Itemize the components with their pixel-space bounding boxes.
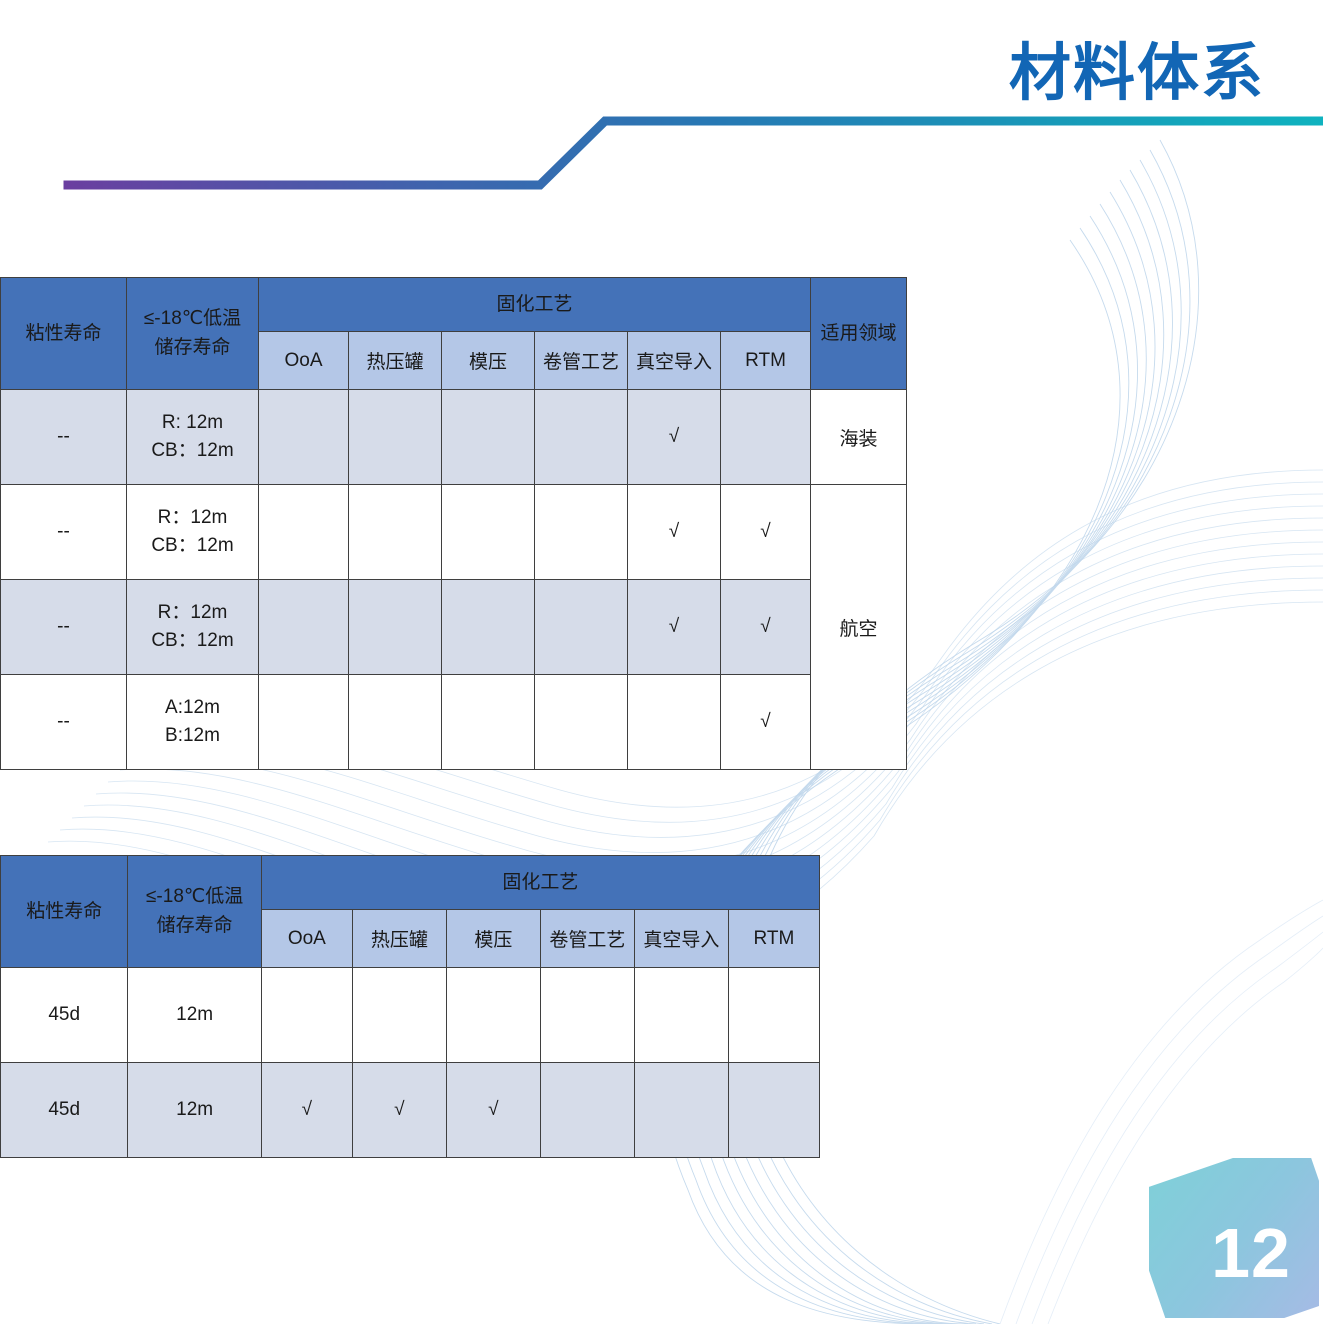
cell-application: 海装 — [811, 390, 907, 485]
col-header-tack-life: 粘性寿命 — [1, 856, 128, 968]
page-title: 材料体系 — [1009, 22, 1265, 112]
cell-check-autoclave — [352, 968, 446, 1063]
cell-check-rtm: √ — [721, 675, 811, 770]
material-system-table-two: 粘性寿命 ≤-18℃低温 储存寿命 固化工艺 OoA 热压罐 模压 卷管工艺 真… — [0, 855, 820, 1158]
table-row: 45d 12m — [1, 968, 820, 1063]
cell-tack-life: -- — [1, 485, 127, 580]
cell-check-tube-rolling — [535, 390, 628, 485]
cell-check-vacuum-infusion: √ — [628, 390, 721, 485]
col-header-ooa: OoA — [261, 910, 352, 968]
cell-cold-storage: 12m — [128, 1063, 261, 1158]
table-row: -- A:12m B:12m √ — [1, 675, 907, 770]
col-header-application: 适用领域 — [811, 278, 907, 390]
col-header-vacuum-infusion: 真空导入 — [628, 332, 721, 390]
page-number: 12 — [1211, 1218, 1291, 1288]
cell-check-vacuum-infusion: √ — [628, 485, 721, 580]
material-system-table-one: 粘性寿命 ≤-18℃低温 储存寿命 固化工艺 适用领域 OoA 热压罐 模压 卷… — [0, 277, 907, 770]
cell-tack-life: -- — [1, 390, 127, 485]
cell-tack-life: -- — [1, 675, 127, 770]
col-header-rtm: RTM — [728, 910, 819, 968]
cell-check-compression-molding — [442, 675, 535, 770]
col-header-ooa: OoA — [259, 332, 349, 390]
title-accent-rule — [60, 105, 1323, 215]
col-header-autoclave: 热压罐 — [349, 332, 442, 390]
cell-check-tube-rolling — [535, 675, 628, 770]
col-header-rtm: RTM — [721, 332, 811, 390]
cell-check-rtm: √ — [721, 580, 811, 675]
col-header-cure-process-group: 固化工艺 — [261, 856, 819, 910]
cell-tack-life: -- — [1, 580, 127, 675]
cell-check-compression-molding — [442, 580, 535, 675]
cell-check-compression-molding — [446, 968, 540, 1063]
cell-check-vacuum-infusion: √ — [628, 580, 721, 675]
cell-cold-storage: A:12m B:12m — [127, 675, 259, 770]
col-header-cure-process-group: 固化工艺 — [259, 278, 811, 332]
cell-check-rtm — [721, 390, 811, 485]
cell-tack-life: 45d — [1, 968, 128, 1063]
col-header-cold-storage: ≤-18℃低温 储存寿命 — [127, 278, 259, 390]
cell-check-autoclave — [349, 390, 442, 485]
cell-check-ooa — [259, 675, 349, 770]
cell-check-tube-rolling — [535, 485, 628, 580]
cell-cold-storage: R：12m CB：12m — [127, 580, 259, 675]
cell-check-ooa — [259, 390, 349, 485]
col-header-tack-life: 粘性寿命 — [1, 278, 127, 390]
cell-check-compression-molding — [442, 485, 535, 580]
cell-check-compression-molding: √ — [446, 1063, 540, 1158]
col-header-compression-molding: 模压 — [442, 332, 535, 390]
cell-check-rtm: √ — [721, 485, 811, 580]
cell-check-vacuum-infusion — [634, 968, 728, 1063]
cell-cold-storage: R: 12m CB：12m — [127, 390, 259, 485]
cell-tack-life: 45d — [1, 1063, 128, 1158]
cell-check-ooa — [259, 580, 349, 675]
col-header-autoclave: 热压罐 — [352, 910, 446, 968]
col-header-compression-molding: 模压 — [446, 910, 540, 968]
cell-check-compression-molding — [442, 390, 535, 485]
col-header-tube-rolling: 卷管工艺 — [540, 910, 634, 968]
cell-check-autoclave: √ — [352, 1063, 446, 1158]
cell-check-autoclave — [349, 485, 442, 580]
cell-check-vacuum-infusion — [628, 675, 721, 770]
table-row: -- R: 12m CB：12m √ 海装 — [1, 390, 907, 485]
cell-check-vacuum-infusion — [634, 1063, 728, 1158]
cell-check-autoclave — [349, 580, 442, 675]
cell-check-ooa — [259, 485, 349, 580]
cell-check-rtm — [728, 1063, 819, 1158]
cell-check-tube-rolling — [540, 968, 634, 1063]
col-header-cold-storage: ≤-18℃低温 储存寿命 — [128, 856, 261, 968]
col-header-vacuum-infusion: 真空导入 — [634, 910, 728, 968]
cell-check-tube-rolling — [540, 1063, 634, 1158]
cell-check-rtm — [728, 968, 819, 1063]
cell-check-ooa — [261, 968, 352, 1063]
cell-check-ooa: √ — [261, 1063, 352, 1158]
cell-cold-storage: R：12m CB：12m — [127, 485, 259, 580]
table-row: 45d 12m √ √ √ — [1, 1063, 820, 1158]
cell-application: 航空 — [811, 485, 907, 770]
cell-check-tube-rolling — [535, 580, 628, 675]
table-row: -- R：12m CB：12m √ √ 航空 — [1, 485, 907, 580]
cell-cold-storage: 12m — [128, 968, 261, 1063]
col-header-tube-rolling: 卷管工艺 — [535, 332, 628, 390]
cell-check-autoclave — [349, 675, 442, 770]
table-row: -- R：12m CB：12m √ √ — [1, 580, 907, 675]
